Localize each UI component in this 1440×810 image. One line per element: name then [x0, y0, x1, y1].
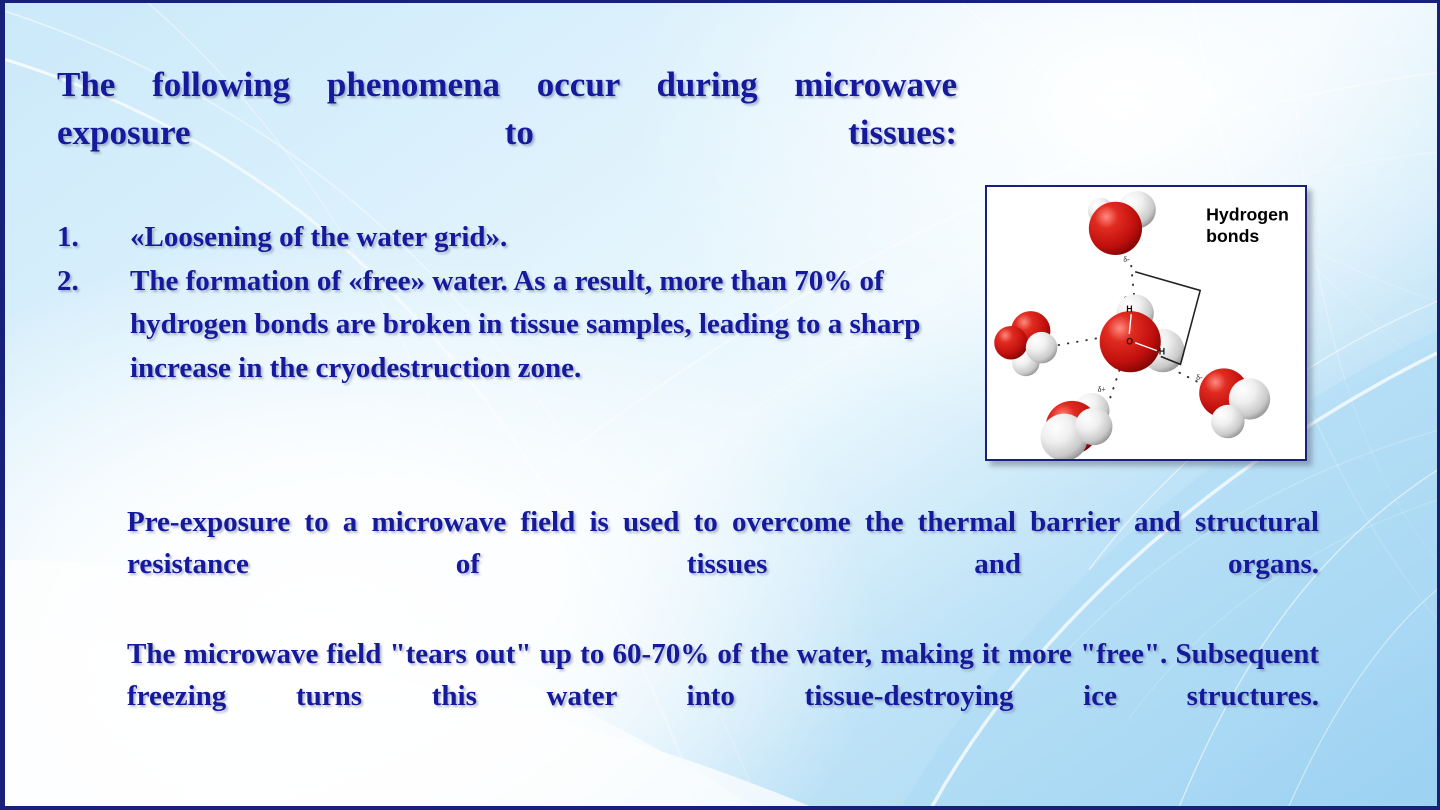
- water-molecule-left: [994, 311, 1057, 376]
- list-item: 2. The formation of «free» water. As a r…: [57, 260, 962, 391]
- list-item-number: 1.: [57, 216, 130, 260]
- list-item: 1. «Loosening of the water grid».: [57, 216, 962, 260]
- list-item-text: «Loosening of the water grid».: [130, 216, 962, 260]
- hydrogen-bonds-figure: δ- δ+ δ+ δ- δ- δ+ δ+ δ-: [985, 185, 1307, 461]
- water-molecule-diagram: δ- δ+ δ+ δ- δ- δ+ δ+ δ-: [987, 187, 1305, 459]
- caption-line-1: Hydrogen: [1206, 205, 1289, 225]
- charge-delta-negative: δ-: [1123, 255, 1130, 264]
- atom-label-hydrogen: H: [1126, 304, 1132, 314]
- charge-delta-positive: δ+: [1098, 385, 1107, 394]
- numbered-list: 1. «Loosening of the water grid». 2. The…: [57, 216, 962, 390]
- list-item-text: The formation of «free» water. As a resu…: [130, 260, 962, 391]
- list-item-number: 2.: [57, 260, 130, 304]
- caption-line-2: bonds: [1206, 226, 1259, 246]
- paragraph-microwave-field: The microwave field "tears out" up to 60…: [127, 633, 1319, 759]
- water-molecule-top: [1088, 191, 1156, 255]
- slide-heading: The following phenomena occur during mic…: [57, 61, 957, 204]
- charge-delta-negative: δ-: [1196, 373, 1203, 382]
- water-molecule-right: [1199, 368, 1270, 438]
- water-molecule-bottom-left: [1041, 393, 1113, 459]
- slide-canvas: The following phenomena occur during mic…: [0, 0, 1440, 810]
- atom-label-hydrogen: H: [1159, 347, 1165, 357]
- atom-label-oxygen: O: [1126, 337, 1133, 347]
- paragraph-pre-exposure: Pre-exposure to a microwave field is use…: [127, 501, 1319, 627]
- figure-caption: Hydrogen bonds: [1206, 205, 1289, 247]
